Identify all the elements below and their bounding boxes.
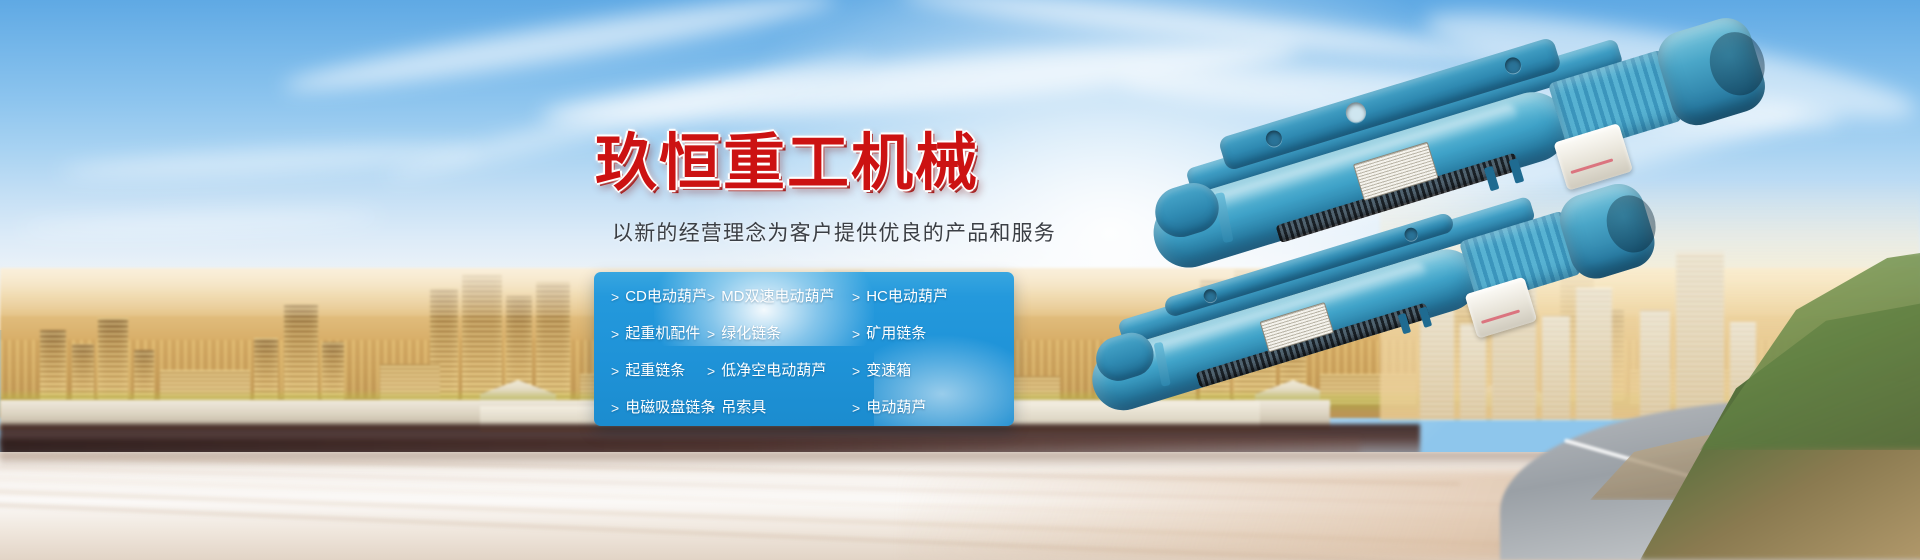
product-link-8[interactable]: >变速箱	[852, 352, 1014, 389]
product-link-label: CD电动葫芦	[625, 288, 707, 306]
product-link-11[interactable]: >电动葫芦	[852, 389, 1014, 426]
chevron-right-icon: >	[852, 288, 860, 306]
page-title: 玖恒重工机械	[595, 128, 979, 200]
page-subtitle: 以新的经营理念为客户提供优良的产品和服务	[612, 219, 1056, 249]
product-link-label: 低净空电动葫芦	[721, 362, 826, 380]
product-link-9[interactable]: >电磁吸盘链条	[594, 389, 707, 426]
chevron-right-icon: >	[852, 362, 860, 380]
product-link-label: 吊索具	[721, 399, 766, 417]
chevron-right-icon: >	[707, 399, 715, 417]
chevron-right-icon: >	[852, 325, 860, 343]
chevron-right-icon: >	[707, 325, 715, 343]
chevron-right-icon: >	[707, 288, 715, 306]
product-link-label: 变速箱	[866, 362, 911, 380]
chevron-right-icon: >	[707, 362, 715, 380]
chevron-right-icon: >	[852, 399, 860, 417]
chevron-right-icon: >	[611, 288, 619, 306]
product-link-label: 电磁吸盘链条	[625, 399, 715, 417]
product-link-label: 电动葫芦	[866, 399, 926, 417]
product-link-label: HC电动葫芦	[866, 288, 948, 306]
product-link-label: 起重机配件	[625, 325, 700, 343]
chevron-right-icon: >	[611, 362, 619, 380]
product-link-0[interactable]: >CD电动葫芦	[594, 278, 707, 315]
product-link-3[interactable]: >起重机配件	[594, 315, 707, 352]
product-link-6[interactable]: >起重链条	[594, 352, 707, 389]
product-link-label: 矿用链条	[866, 325, 926, 343]
product-link-1[interactable]: >MD双速电动葫芦	[707, 278, 852, 315]
product-link-2[interactable]: >HC电动葫芦	[852, 278, 1014, 315]
product-link-label: 绿化链条	[721, 325, 781, 343]
product-link-7[interactable]: >低净空电动葫芦	[707, 352, 852, 389]
product-link-label: MD双速电动葫芦	[721, 288, 834, 306]
product-link-4[interactable]: >绿化链条	[707, 315, 852, 352]
hero-banner: 玖恒重工机械 以新的经营理念为客户提供优良的产品和服务 >CD电动葫芦>MD双速…	[0, 0, 1920, 560]
product-link-10[interactable]: >吊索具	[707, 389, 852, 426]
product-links-panel: >CD电动葫芦>MD双速电动葫芦>HC电动葫芦>起重机配件>绿化链条>矿用链条>…	[594, 272, 1014, 426]
chevron-right-icon: >	[611, 399, 619, 417]
product-link-label: 起重链条	[625, 362, 685, 380]
chevron-right-icon: >	[611, 325, 619, 343]
product-links-grid: >CD电动葫芦>MD双速电动葫芦>HC电动葫芦>起重机配件>绿化链条>矿用链条>…	[594, 272, 1014, 426]
product-link-5[interactable]: >矿用链条	[852, 315, 1014, 352]
